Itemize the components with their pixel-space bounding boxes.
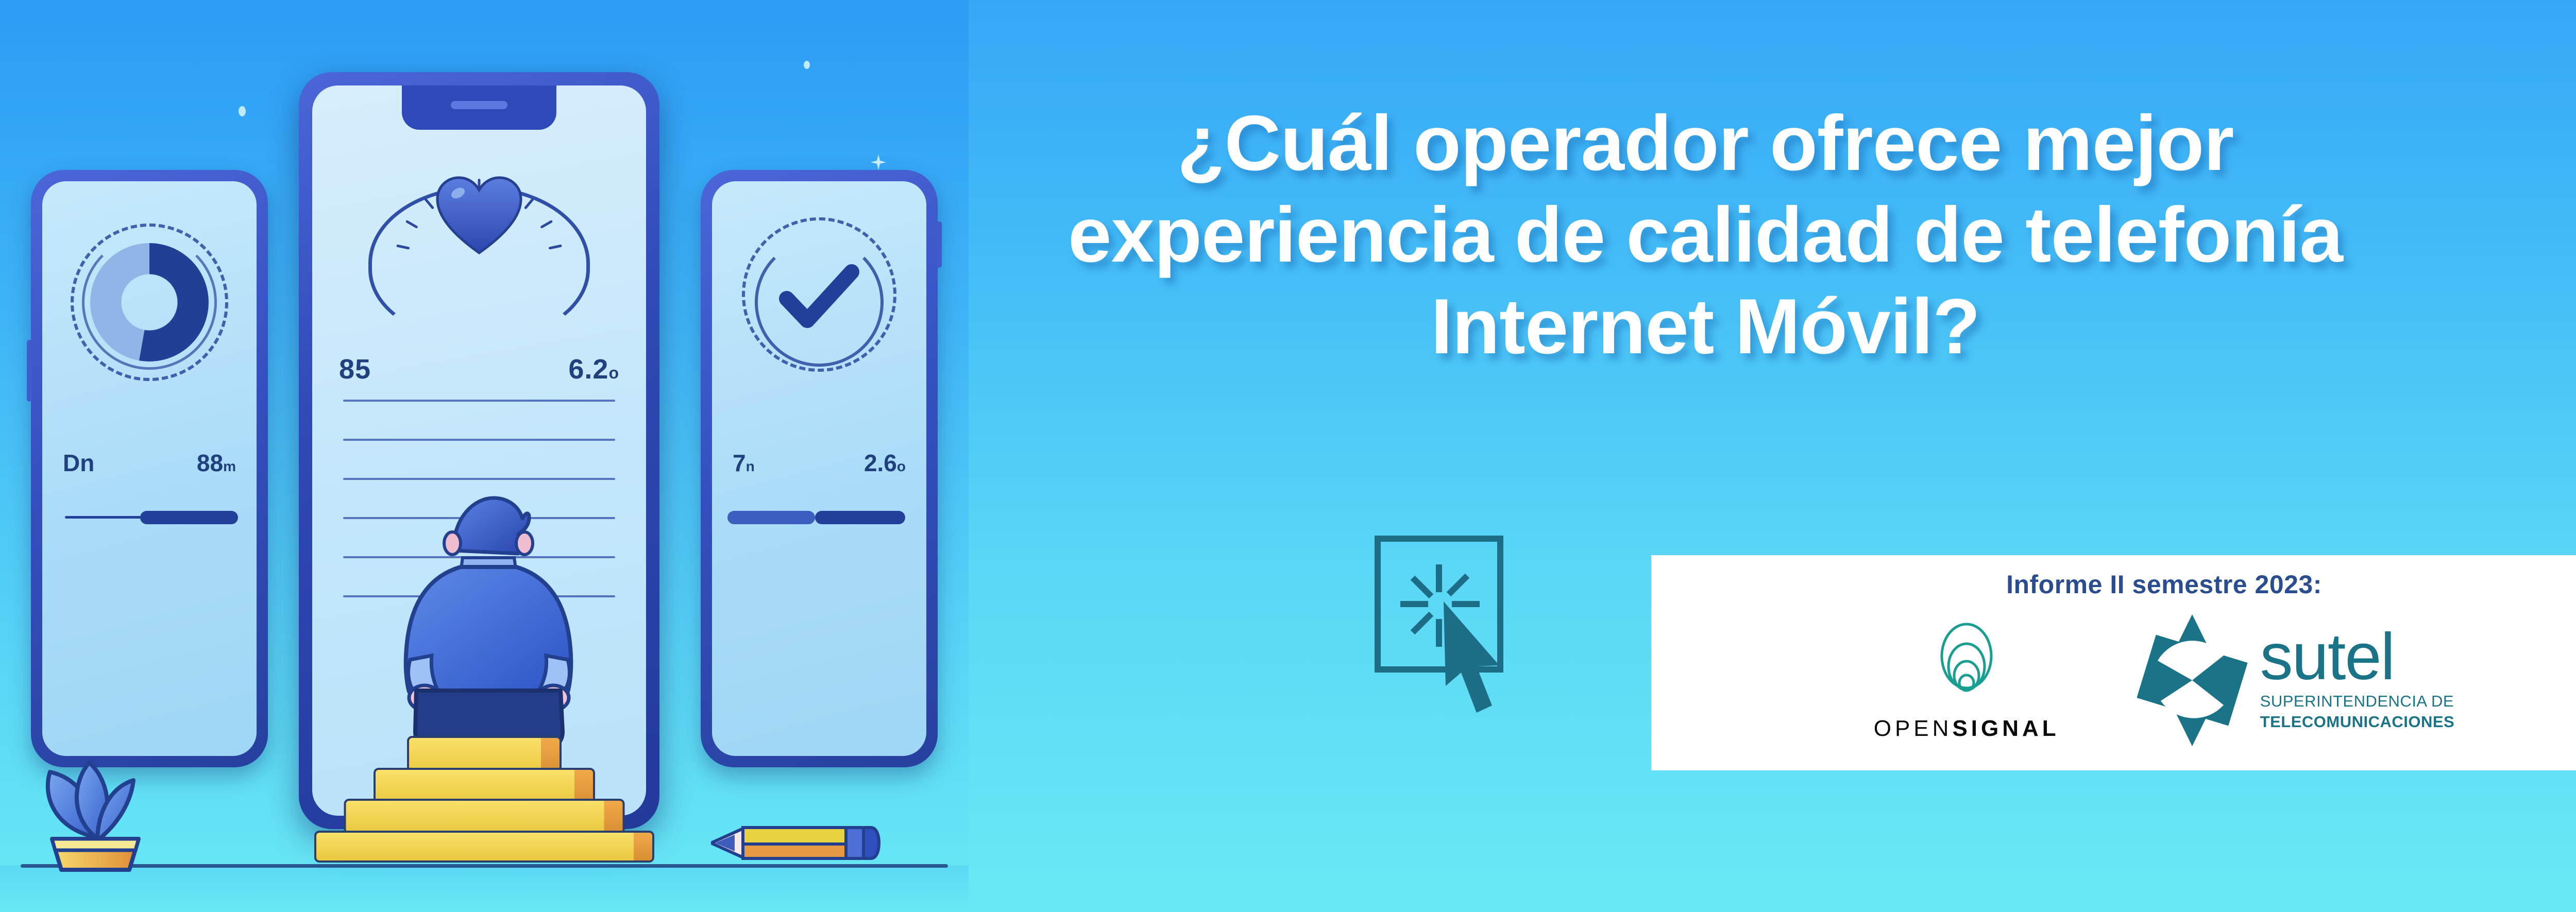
report-card: Informe II semestre 2023: OPENSIGNAL [1651,555,2576,770]
phone-left-stats: Dn 88m [63,449,236,477]
sitting-person-illustration [376,490,592,758]
progress-bar-fill [140,511,238,524]
pencil-icon [711,822,881,863]
phone-left-metric-label: Dn [63,449,94,477]
opensignal-logo: OPENSIGNAL [1874,619,2060,742]
sutel-wordmark: sutel [2260,629,2455,685]
phone-left-metric-value: 88m [197,449,236,477]
phone-right-screen: 7n 2.6o [712,181,926,756]
opensignal-word-signal: SIGNAL [1952,716,2059,741]
floor-surface [0,866,969,912]
sutel-text-block: sutel SUPERINTENDENCIA DE TELECOMUNICACI… [2260,629,2455,732]
sparkle-dot [804,61,810,69]
sutel-subtitle-line1: SUPERINTENDENCIA DE [2260,692,2455,711]
phone-right: 7n 2.6o [701,170,938,767]
sutel-logo: sutel SUPERINTENDENCIA DE TELECOMUNICACI… [2137,613,2455,747]
phone-right-stats: 7n 2.6o [733,449,906,477]
sutel-star-icon [2137,613,2248,747]
report-label: Informe II semestre 2023: [2006,570,2322,599]
gold-step-third [344,799,625,835]
phone-notch [402,85,556,130]
opensignal-wordmark: OPENSIGNAL [1874,716,2060,742]
phone-center-metric-left: 85 [339,353,371,385]
phone-left-screen: Dn 88m [42,181,257,756]
opensignal-word-open: OPEN [1874,716,1953,741]
page-title: ¿Cuál operador ofrece mejor experiencia … [979,98,2432,372]
heart-icon [435,176,523,255]
phone-left: Dn 88m [31,170,268,767]
checkmark-glyph-icon [775,259,863,336]
progress-bar-fill [727,511,815,524]
phone-center-metric-right: 6.2o [568,353,619,385]
gold-steps [309,736,659,865]
progress-base-line [65,516,142,519]
hero-illustration: Dn 88m 7n 2.6o [0,0,969,912]
sutel-subtitle-line2: TELECOMUNICACIONES [2260,713,2455,731]
donut-chart-icon [90,243,209,362]
opensignal-waves-icon [1928,619,2005,707]
phone-center-stats: 85 6.2o [339,353,619,385]
logo-row: OPENSIGNAL [1651,599,2576,770]
phone-right-metric-left: 7n [733,449,755,477]
phone-right-metric-right: 2.6o [864,449,906,477]
progress-bar-rest [815,511,905,524]
sparkle-star-icon [871,154,886,170]
potted-plant-icon [28,722,162,872]
click-target-cursor-icon [1370,536,1525,731]
sparkle-dot [239,106,246,116]
gold-step-bottom [314,831,654,863]
